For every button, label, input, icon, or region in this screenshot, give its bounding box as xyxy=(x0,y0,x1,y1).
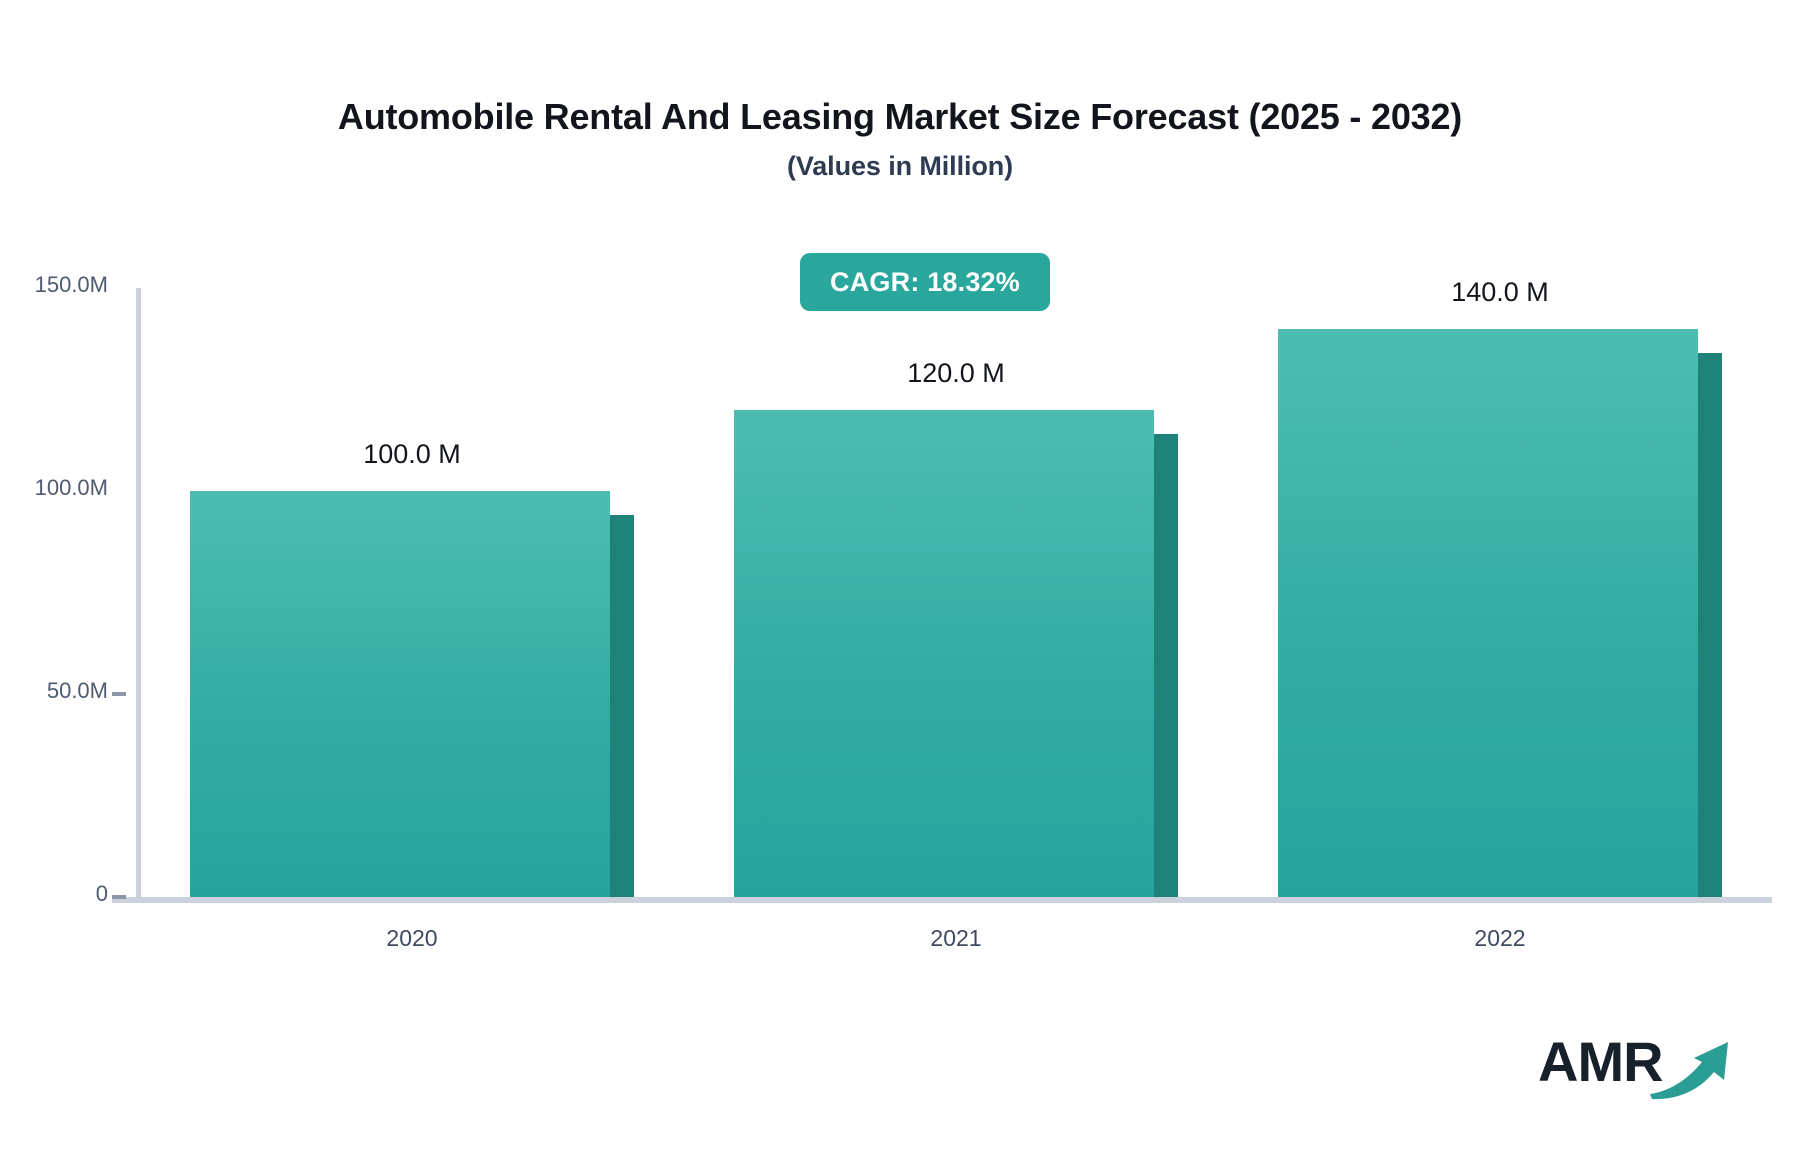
plot-area: 050.0M100.0M150.0M 100.0 M120.0 M140.0 M… xyxy=(0,0,1800,1156)
y-axis-tick-label: 0 xyxy=(96,881,108,907)
logo-wordmark: AMR xyxy=(1538,1034,1663,1090)
y-axis-tick-mark xyxy=(112,895,126,899)
y-axis-tick-mark xyxy=(112,692,126,696)
bar xyxy=(1278,0,1722,897)
y-axis-tick-label: 100.0M xyxy=(35,475,108,501)
bar-front-face xyxy=(1278,329,1698,897)
growth-arrow-icon xyxy=(1648,1036,1734,1100)
y-axis-line xyxy=(136,288,141,898)
x-axis-category-label: 2020 xyxy=(190,925,634,952)
chart-canvas: Automobile Rental And Leasing Market Siz… xyxy=(0,0,1800,1156)
bar-front-face xyxy=(734,410,1154,897)
bar-value-label: 140.0 M xyxy=(1278,277,1722,308)
x-axis-category-label: 2021 xyxy=(734,925,1178,952)
amr-logo: AMR xyxy=(1538,1030,1728,1108)
bar-side-face xyxy=(1698,353,1722,897)
cagr-badge: CAGR: 18.32% xyxy=(800,253,1050,311)
x-axis-baseline xyxy=(112,897,1772,903)
bar-front-face xyxy=(190,491,610,897)
bar-value-label: 100.0 M xyxy=(190,439,634,470)
bar-side-face xyxy=(610,515,634,897)
bar-side-face xyxy=(1154,434,1178,897)
bar xyxy=(734,0,1178,897)
y-axis-tick-label: 50.0M xyxy=(47,678,108,704)
bar-value-label: 120.0 M xyxy=(734,358,1178,389)
x-axis-category-label: 2022 xyxy=(1278,925,1722,952)
y-axis-tick-label: 150.0M xyxy=(35,272,108,298)
